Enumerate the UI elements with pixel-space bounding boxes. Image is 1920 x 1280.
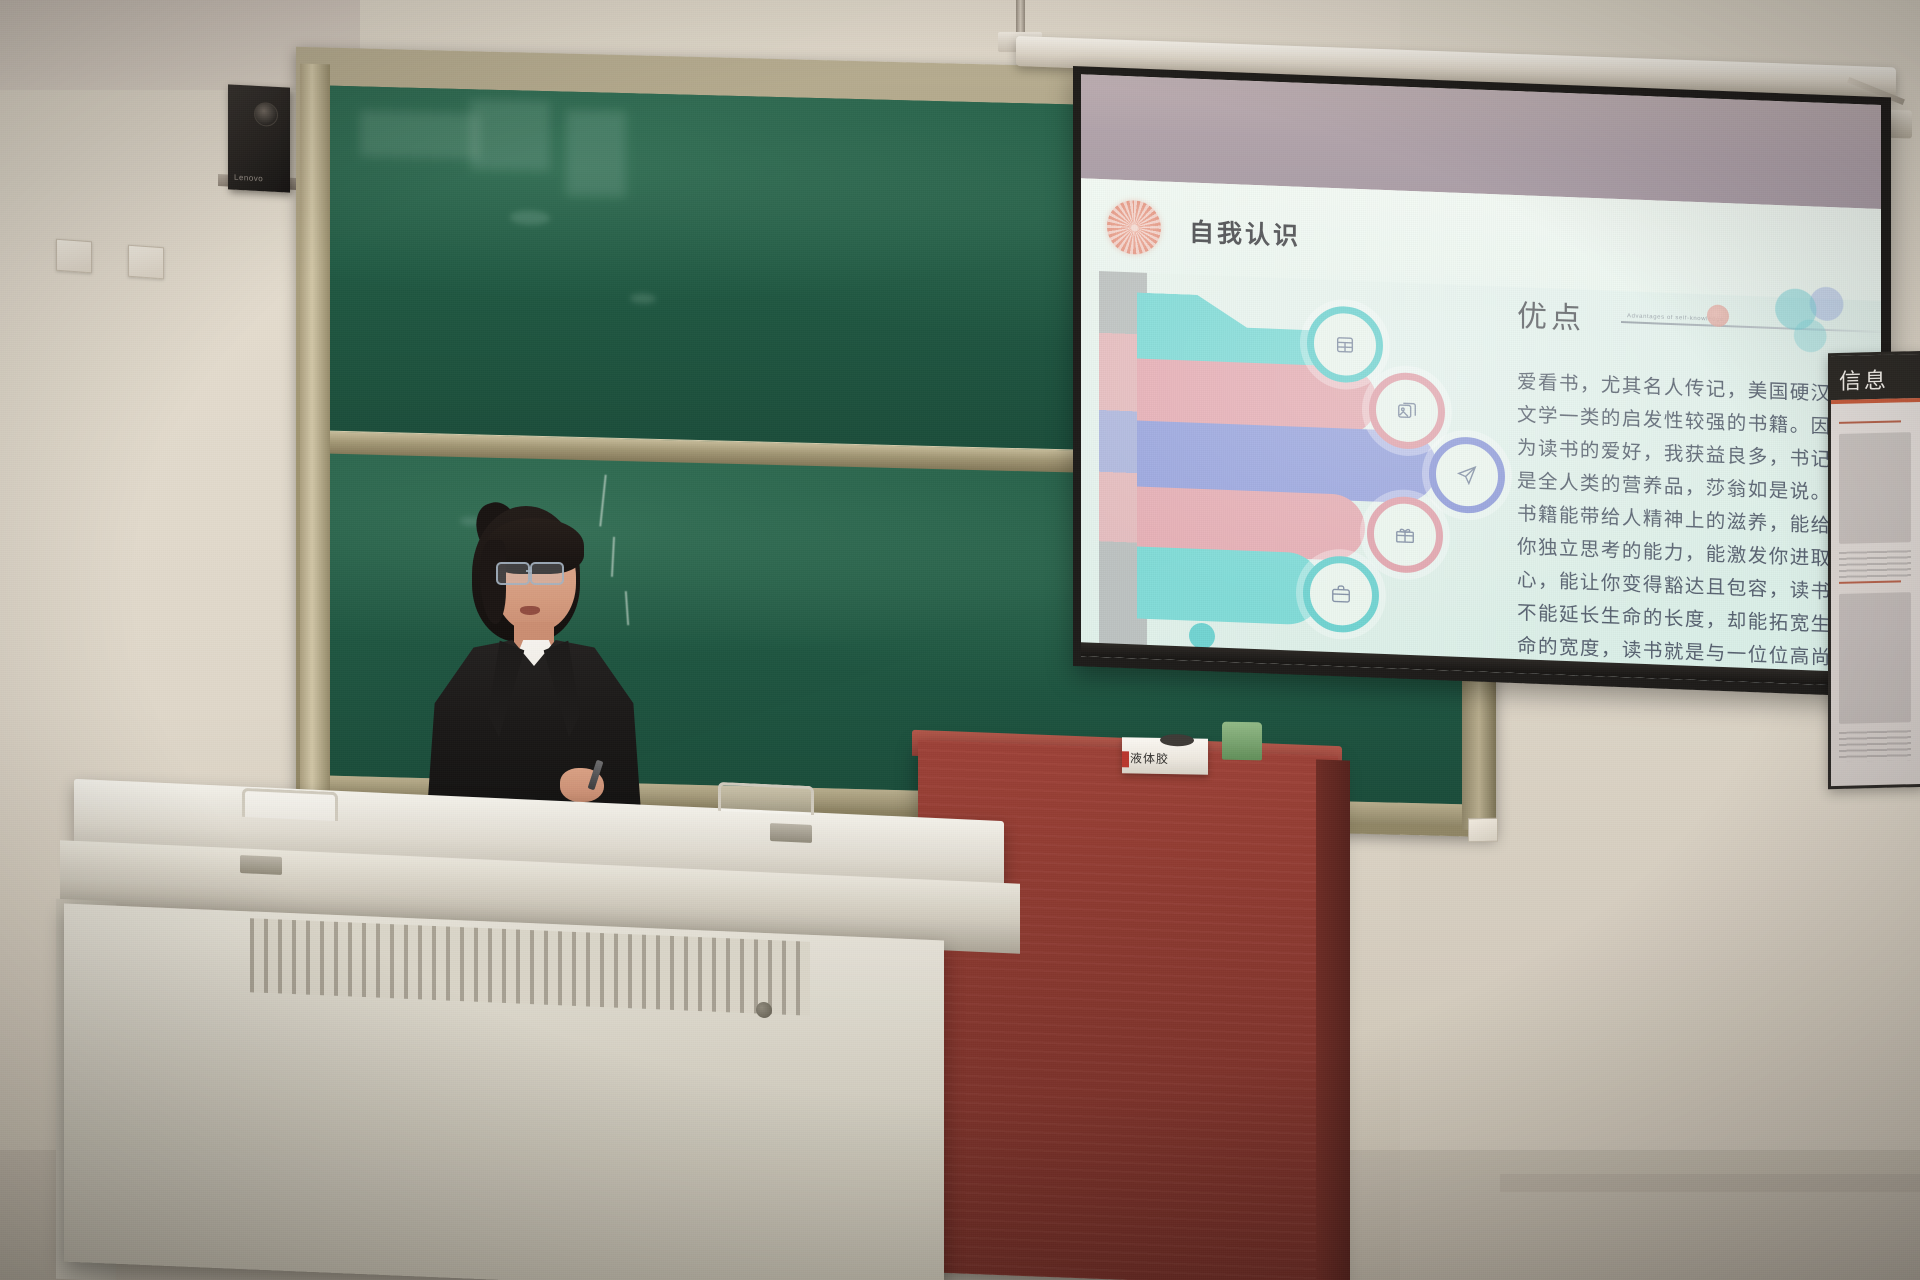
wall-speaker: Lenovo bbox=[228, 84, 290, 192]
green-object-on-lectern bbox=[1222, 722, 1262, 761]
console-handle-right[interactable] bbox=[718, 782, 814, 815]
ceiling-mount-rod bbox=[1016, 0, 1025, 36]
ribbon-teal-2 bbox=[1137, 546, 1323, 625]
wall-skirting bbox=[1500, 1174, 1920, 1192]
citrus-slice-logo-icon bbox=[1107, 199, 1161, 255]
glue-box-opening bbox=[1160, 734, 1194, 747]
blackboard-left-trim bbox=[300, 64, 330, 821]
glasses-right-lens bbox=[530, 562, 564, 585]
mouth bbox=[520, 606, 540, 615]
slide-content: 优点 Advantages of self-knowledge 爱看书，尤其名人… bbox=[1471, 289, 1857, 666]
glue-box-red-tab bbox=[1122, 751, 1129, 767]
poster-divider-1 bbox=[1839, 420, 1901, 424]
speaker-cone-icon bbox=[254, 102, 278, 127]
poster-text-block-1 bbox=[1839, 550, 1911, 580]
console-hinge-left bbox=[240, 855, 282, 875]
decor-dot bbox=[1707, 304, 1729, 327]
projection-screen[interactable]: 自我认识 bbox=[1073, 66, 1891, 697]
poster-header: 信息 bbox=[1831, 354, 1920, 400]
slide-kicker-label: 自我认识 bbox=[1189, 212, 1301, 252]
poster-image-block-2 bbox=[1839, 592, 1911, 724]
console-lock-knob[interactable] bbox=[756, 1002, 772, 1019]
glasses-bridge bbox=[526, 570, 532, 572]
speaker-brand-label: Lenovo bbox=[234, 173, 263, 184]
glue-box: 液体胶 bbox=[1122, 737, 1208, 775]
classroom-scene: Lenovo bbox=[0, 0, 1920, 1280]
poster-accent-bar bbox=[1831, 398, 1920, 404]
slide-section-title-row: 优点 Advantages of self-knowledge bbox=[1471, 289, 1857, 368]
poster-image-block-1 bbox=[1839, 432, 1911, 544]
console-hinge-right bbox=[770, 823, 812, 843]
wall-switch-plate-left[interactable] bbox=[56, 239, 92, 274]
lectern-side-panel bbox=[1316, 759, 1350, 1280]
poster-text-block-2 bbox=[1839, 730, 1911, 762]
gift-icon bbox=[1367, 495, 1443, 574]
poster-divider-2 bbox=[1839, 580, 1901, 584]
presentation-slide: 自我认识 bbox=[1081, 178, 1881, 687]
power-outlet[interactable] bbox=[1468, 818, 1498, 843]
slide-body-text: 爱看书，尤其名人传记，美国硬汉文学一类的启发性较强的书籍。因为读书的爱好，我获益… bbox=[1471, 363, 1857, 687]
presenter bbox=[418, 500, 648, 820]
ribbon-end-dot bbox=[1189, 622, 1215, 649]
slide-section-title: 优点 bbox=[1517, 291, 1585, 338]
glue-box-label: 液体胶 bbox=[1130, 749, 1169, 767]
glasses-left-lens bbox=[496, 562, 530, 585]
logo-core bbox=[1131, 224, 1138, 231]
briefcase-icon bbox=[1303, 555, 1379, 634]
wall-switch-plate-right[interactable] bbox=[128, 245, 164, 280]
poster-title: 信息 bbox=[1839, 363, 1889, 396]
console-handle-left[interactable] bbox=[242, 788, 338, 821]
wall-poster: 信息 bbox=[1828, 351, 1920, 789]
screen-surface: 自我认识 bbox=[1081, 74, 1881, 687]
